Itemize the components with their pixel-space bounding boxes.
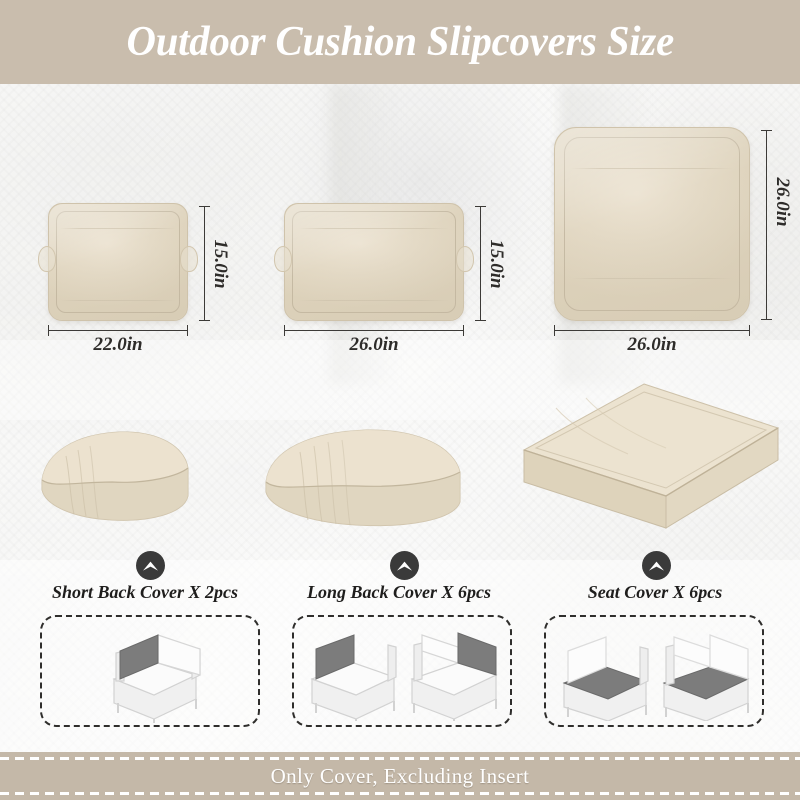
sofa-shape-armless <box>554 627 658 721</box>
diagram-box-long-back <box>292 615 512 727</box>
cushion-3d-seat <box>516 378 788 538</box>
dimension-label-width-1: 22.0in <box>48 334 188 356</box>
cover-fold <box>60 300 176 301</box>
dimension-line-height-2 <box>480 206 481 321</box>
sofa-diagram-armless-chair <box>554 627 658 721</box>
cover-illustration-long-back <box>284 203 464 321</box>
cover-fold <box>571 278 734 279</box>
sofa-diagram-armless-chair <box>302 627 406 721</box>
diagram-box-short-back <box>40 615 260 727</box>
cover-tie-right <box>180 246 198 272</box>
chevron-up-icon <box>648 560 665 572</box>
cover-tie-left <box>38 246 56 272</box>
footer-stitch-bottom <box>0 792 800 795</box>
cover-tie-left <box>274 246 292 272</box>
cushion-3d-short-back <box>28 418 208 528</box>
diagram-box-seat <box>544 615 764 727</box>
sofa-shape-armless <box>302 627 406 721</box>
dimension-line-width-1 <box>48 330 188 331</box>
dimension-line-height-3 <box>766 130 767 320</box>
sofa-shape-corner <box>96 623 208 723</box>
dimension-label-height-1: 15.0in <box>209 226 231 302</box>
page-title: Outdoor Cushion Slipcovers Size <box>126 18 674 66</box>
chevron-up-icon <box>142 560 159 572</box>
dimension-label-height-3: 26.0in <box>771 164 793 240</box>
dimension-line-width-2 <box>284 330 464 331</box>
cover-illustration-short-back <box>48 203 188 321</box>
sofa-shape-corner <box>650 627 762 721</box>
group-label-long-back: Long Back Cover X 6pcs <box>264 582 534 603</box>
chevron-up-icon <box>396 560 413 572</box>
cushion-3d-seat-shape <box>516 378 788 538</box>
chevron-up-icon-short-back <box>136 551 165 580</box>
footer-stitch-top <box>0 757 800 760</box>
group-label-seat: Seat Cover X 6pcs <box>520 582 790 603</box>
cushion-3d-long-back-shape <box>256 418 482 533</box>
sofa-shape-corner <box>398 627 510 721</box>
cover-fold <box>60 228 176 229</box>
dimension-line-width-3 <box>554 330 750 331</box>
cover-sheen <box>285 204 463 320</box>
sofa-diagram-corner-chair <box>96 623 208 723</box>
cover-sheen <box>555 128 749 320</box>
cover-fold <box>299 300 449 301</box>
group-label-short-back: Short Back Cover X 2pcs <box>10 582 280 603</box>
cover-tie-right <box>456 246 474 272</box>
infographic-page: Outdoor Cushion Slipcovers Size 15.0in 2… <box>0 0 800 800</box>
chevron-up-icon-long-back <box>390 551 419 580</box>
cover-fold <box>299 228 449 229</box>
cushion-3d-long-back <box>256 418 482 533</box>
dimension-label-height-2: 15.0in <box>485 226 507 302</box>
chevron-up-icon-seat <box>642 551 671 580</box>
cover-sheen <box>49 204 187 320</box>
sofa-diagram-corner-chair <box>398 627 510 721</box>
dimension-line-height-1 <box>204 206 205 321</box>
sofa-diagram-corner-chair <box>650 627 762 721</box>
cover-fold <box>571 168 734 169</box>
cover-illustration-seat <box>554 127 750 321</box>
dimension-label-width-2: 26.0in <box>284 334 464 356</box>
footer-bar: Only Cover, Excluding Insert <box>0 752 800 800</box>
dimension-label-width-3: 26.0in <box>554 334 750 356</box>
footer-note: Only Cover, Excluding Insert <box>271 764 530 789</box>
cushion-3d-short-back-shape <box>28 418 208 528</box>
header-bar: Outdoor Cushion Slipcovers Size <box>0 0 800 84</box>
